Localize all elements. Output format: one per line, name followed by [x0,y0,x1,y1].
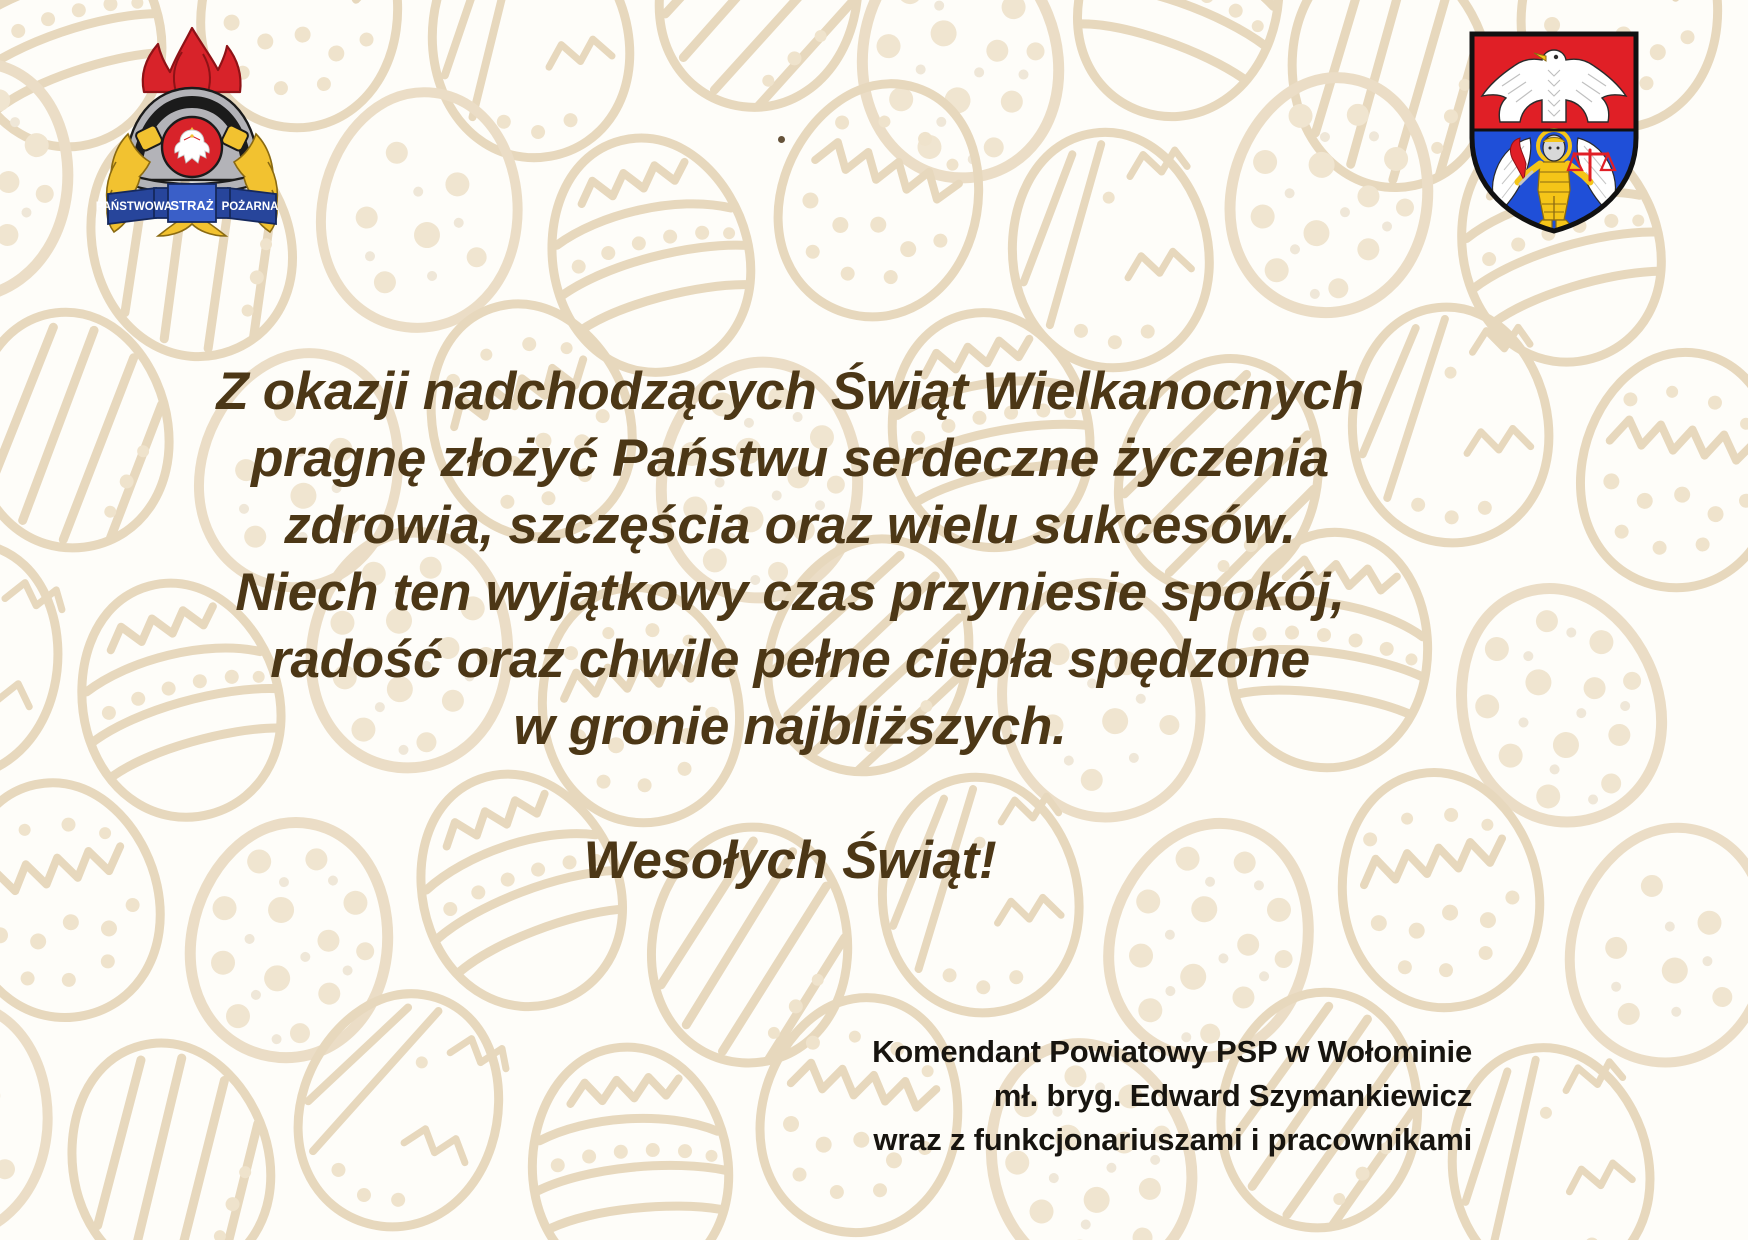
psp-banner-right-text: POŻARNA [222,200,279,213]
powiat-wolominski-coat-of-arms-icon [1468,30,1640,235]
flame-icon [143,28,241,92]
signature-line-staff: wraz z funkcjonariuszami i pracownikami [872,1118,1472,1162]
psp-banner-left-text: PAŃSTWOWA [96,200,172,213]
dot-artifact [778,136,785,143]
greeting-text-block: Z okazji nadchodzących Świąt Wielkanocny… [0,358,1580,894]
psp-banner-center-text: STRAŻ [170,198,213,213]
poland-eagle-shield-icon [162,117,222,177]
signature-line-name: mł. bryg. Edward Szymankiewicz [872,1074,1472,1118]
greeting-line-4: Niech ten wyjątkowy czas przyniesie spok… [0,559,1580,626]
psp-emblem-icon: PAŃSTWOWA STRAŻ POŻARNA [92,22,292,237]
signature-block: Komendant Powiatowy PSP w Wołominie mł. … [872,1030,1472,1162]
greeting-spacer [0,760,1580,827]
greeting-line-5: radość oraz chwile pełne ciepła spędzone [0,626,1580,693]
greeting-line-6: w gronie najbliższych. [0,693,1580,760]
easter-greeting-card: PAŃSTWOWA STRAŻ POŻARNA [0,0,1748,1240]
signature-line-title: Komendant Powiatowy PSP w Wołominie [872,1030,1472,1074]
greeting-line-3: zdrowia, szczęścia oraz wielu sukcesów. [0,492,1580,559]
greeting-line-2: pragnę złożyć Państwu serdeczne życzenia [0,425,1580,492]
greeting-closing: Wesołych Świąt! [0,827,1580,894]
greeting-line-1: Z okazji nadchodzących Świąt Wielkanocny… [0,358,1580,425]
